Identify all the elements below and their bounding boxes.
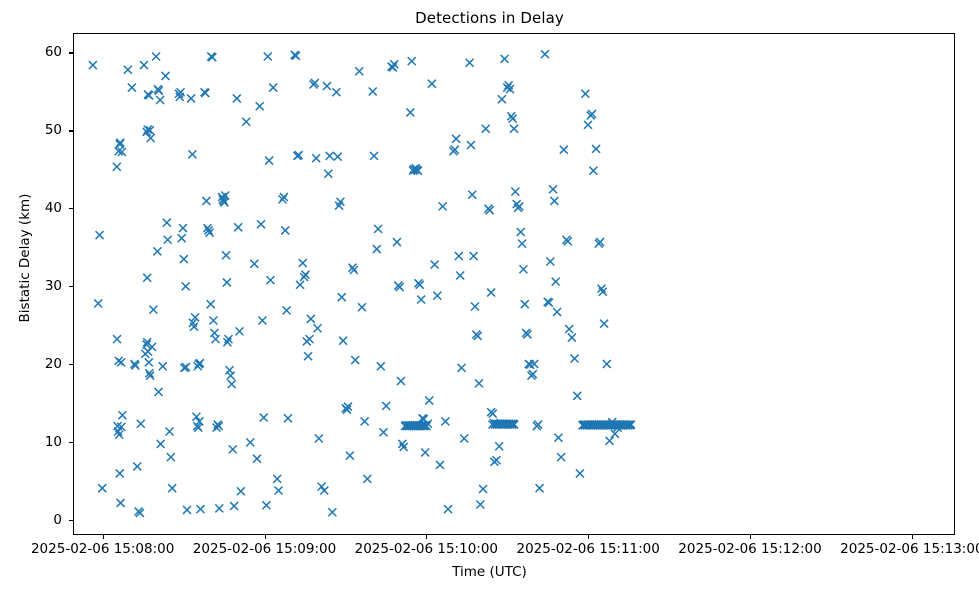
scatter-marker [179, 224, 187, 232]
scatter-marker [326, 152, 334, 160]
scatter-marker [265, 157, 273, 165]
scatter-marker [553, 308, 561, 316]
y-tick-label: 60 [45, 44, 62, 60]
x-tick-label: 2025-02-06 15:10:00 [355, 541, 498, 557]
scatter-marker [215, 504, 223, 512]
scatter-marker [428, 80, 436, 88]
scatter-marker [573, 392, 581, 400]
scatter-marker [361, 417, 369, 425]
scatter-marker [307, 315, 315, 323]
y-tick-label: 40 [45, 200, 62, 216]
scatter-marker [332, 88, 340, 96]
scatter-marker [510, 125, 518, 133]
scatter-marker [475, 379, 483, 387]
scatter-marker [223, 278, 231, 286]
scatter-marker [128, 84, 136, 92]
scatter-marker [466, 59, 474, 67]
scatter-marker [374, 225, 382, 233]
scatter-marker [229, 445, 237, 453]
scatter-marker [145, 358, 153, 366]
scatter-marker [182, 282, 190, 290]
scatter-marker [180, 255, 188, 263]
scatter-marker [324, 170, 332, 178]
scatter-marker [576, 469, 584, 477]
scatter-marker [242, 118, 250, 126]
scatter-marker [166, 428, 174, 436]
y-tick-label: 20 [45, 356, 62, 372]
scatter-marker [156, 96, 164, 104]
scatter-marker [592, 145, 600, 153]
scatter-marker [207, 300, 215, 308]
scatter-marker [168, 484, 176, 492]
scatter-marker [373, 245, 381, 253]
scatter-marker [246, 438, 254, 446]
scatter-marker [153, 247, 161, 255]
scatter-marker [425, 396, 433, 404]
scatter-marker [436, 461, 444, 469]
x-tick-label: 2025-02-06 15:12:00 [678, 541, 821, 557]
scatter-marker [560, 146, 568, 154]
scatter-marker [192, 413, 200, 421]
scatter-marker [222, 251, 230, 259]
scatter-marker [117, 499, 125, 507]
y-tick-label: 0 [53, 512, 62, 528]
scatter-marker [370, 152, 378, 160]
scatter-marker [116, 469, 124, 477]
scatter-marker [133, 462, 141, 470]
scatter-plot-area[interactable] [73, 33, 955, 535]
scatter-marker [164, 236, 172, 244]
data-points-layer [74, 34, 954, 534]
scatter-marker [417, 296, 425, 304]
scatter-marker [233, 94, 241, 102]
matplotlib-figure: Detections in Delay 0102030405060 Bistat… [0, 0, 979, 590]
scatter-marker [98, 484, 106, 492]
scatter-marker [439, 202, 447, 210]
scatter-marker [552, 278, 560, 286]
scatter-marker [137, 420, 145, 428]
scatter-marker [369, 87, 377, 95]
scatter-marker [421, 448, 429, 456]
scatter-marker [202, 197, 210, 205]
scatter-marker [521, 300, 529, 308]
y-tick-label: 10 [45, 434, 62, 450]
scatter-marker [351, 356, 359, 364]
scatter-marker [334, 153, 342, 161]
scatter-marker [284, 414, 292, 422]
scatter-marker [458, 364, 466, 372]
scatter-marker [117, 358, 125, 366]
scatter-marker [518, 240, 526, 248]
scatter-marker [382, 402, 390, 410]
scatter-marker [159, 362, 167, 370]
scatter-marker [157, 440, 165, 448]
scatter-marker [124, 66, 132, 74]
scatter-marker [275, 487, 283, 495]
scatter-marker [283, 306, 291, 314]
scatter-marker [557, 453, 565, 461]
scatter-marker [155, 388, 163, 396]
scatter-marker [358, 303, 366, 311]
scatter-marker [304, 352, 312, 360]
scatter-marker [603, 360, 611, 368]
scatter-marker [212, 335, 220, 343]
scatter-marker [546, 258, 554, 266]
scatter-marker [338, 293, 346, 301]
scatter-marker [467, 141, 475, 149]
scatter-marker [118, 411, 126, 419]
scatter-marker [355, 67, 363, 75]
scatter-marker [273, 475, 281, 483]
scatter-marker [517, 228, 525, 236]
scatter-marker [163, 219, 171, 227]
scatter-marker [501, 55, 509, 63]
scatter-marker [584, 121, 592, 129]
x-tick-label: 2025-02-06 15:08:00 [31, 541, 174, 557]
scatter-marker [479, 485, 487, 493]
scatter-marker [600, 320, 608, 328]
scatter-marker [581, 90, 589, 98]
y-axis-label: Bistatic Delay (km) [17, 7, 33, 509]
scatter-marker [183, 506, 191, 514]
scatter-marker [89, 61, 97, 69]
scatter-marker [143, 274, 151, 282]
scatter-marker [113, 163, 121, 171]
scatter-marker [230, 502, 238, 510]
y-tick-label: 30 [45, 278, 62, 294]
scatter-marker [264, 53, 272, 61]
scatter-marker [140, 61, 148, 69]
scatter-marker [536, 484, 544, 492]
scatter-marker [397, 377, 405, 385]
y-tick-label: 50 [45, 122, 62, 138]
x-tick-mark [750, 535, 751, 539]
scatter-marker [258, 317, 266, 325]
x-axis-tick-labels: 2025-02-06 15:08:002025-02-06 15:09:0020… [0, 541, 979, 561]
scatter-marker [452, 135, 460, 143]
scatter-marker [320, 487, 328, 495]
scatter-marker [167, 453, 175, 461]
scatter-marker [227, 372, 235, 380]
scatter-marker [234, 223, 242, 231]
scatter-marker [565, 325, 573, 333]
x-tick-mark [426, 535, 427, 539]
scatter-marker [201, 89, 209, 97]
scatter-marker [149, 306, 157, 314]
scatter-marker [328, 508, 336, 516]
scatter-marker [511, 188, 519, 196]
scatter-marker [187, 94, 195, 102]
scatter-marker [487, 289, 495, 297]
scatter-marker [468, 191, 476, 199]
scatter-marker [152, 53, 160, 61]
scatter-marker [281, 226, 289, 234]
scatter-marker [305, 335, 313, 343]
scatter-marker [315, 435, 323, 443]
scatter-marker [379, 428, 387, 436]
x-tick-mark [103, 535, 104, 539]
scatter-marker [113, 335, 121, 343]
scatter-marker [178, 234, 186, 242]
scatter-marker [433, 292, 441, 300]
scatter-marker [260, 414, 268, 422]
scatter-marker [554, 434, 562, 442]
x-tick-mark [588, 535, 589, 539]
scatter-marker [476, 501, 484, 509]
scatter-marker [237, 487, 245, 495]
x-tick-label: 2025-02-06 15:13:00 [840, 541, 979, 557]
scatter-marker [406, 108, 414, 116]
x-tick-label: 2025-02-06 15:11:00 [516, 541, 659, 557]
scatter-marker [568, 334, 576, 342]
scatter-marker [541, 50, 549, 58]
scatter-marker [571, 355, 579, 363]
scatter-marker [250, 260, 258, 268]
scatter-marker [460, 435, 468, 443]
scatter-marker [96, 231, 104, 239]
scatter-markers [74, 34, 954, 534]
scatter-marker [253, 455, 261, 463]
x-tick-mark [912, 535, 913, 539]
x-axis-label: Time (UTC) [0, 564, 979, 580]
scatter-marker [256, 102, 264, 110]
scatter-marker [236, 327, 244, 335]
scatter-marker [495, 442, 503, 450]
scatter-marker [162, 72, 170, 80]
scatter-marker [441, 417, 449, 425]
scatter-marker [209, 317, 217, 325]
scatter-marker [323, 82, 331, 90]
scatter-marker [444, 505, 452, 513]
scatter-marker [519, 265, 527, 273]
scatter-marker [188, 150, 196, 158]
scatter-marker [455, 252, 463, 260]
scatter-marker [346, 452, 354, 460]
page-title: Detections in Delay [0, 9, 979, 27]
scatter-marker [339, 337, 347, 345]
scatter-marker [314, 324, 322, 332]
scatter-marker [262, 501, 270, 509]
scatter-marker [456, 271, 464, 279]
x-tick-label: 2025-02-06 15:09:00 [193, 541, 336, 557]
scatter-marker [269, 84, 277, 92]
scatter-marker [482, 125, 490, 133]
scatter-marker [266, 276, 274, 284]
scatter-marker [299, 259, 307, 267]
scatter-marker [431, 261, 439, 269]
scatter-marker [408, 57, 416, 65]
scatter-marker [471, 303, 479, 311]
scatter-marker [393, 238, 401, 246]
scatter-marker [296, 281, 304, 289]
scatter-marker [312, 154, 320, 162]
x-tick-mark [265, 535, 266, 539]
scatter-marker [257, 220, 265, 228]
scatter-marker [498, 95, 506, 103]
scatter-marker [589, 167, 597, 175]
scatter-marker [377, 362, 385, 370]
scatter-marker [94, 299, 102, 307]
scatter-marker [228, 380, 236, 388]
scatter-marker [549, 185, 557, 193]
scatter-marker [196, 505, 204, 513]
scatter-marker [606, 437, 614, 445]
scatter-marker [550, 197, 558, 205]
scatter-marker [470, 252, 478, 260]
scatter-marker [363, 475, 371, 483]
